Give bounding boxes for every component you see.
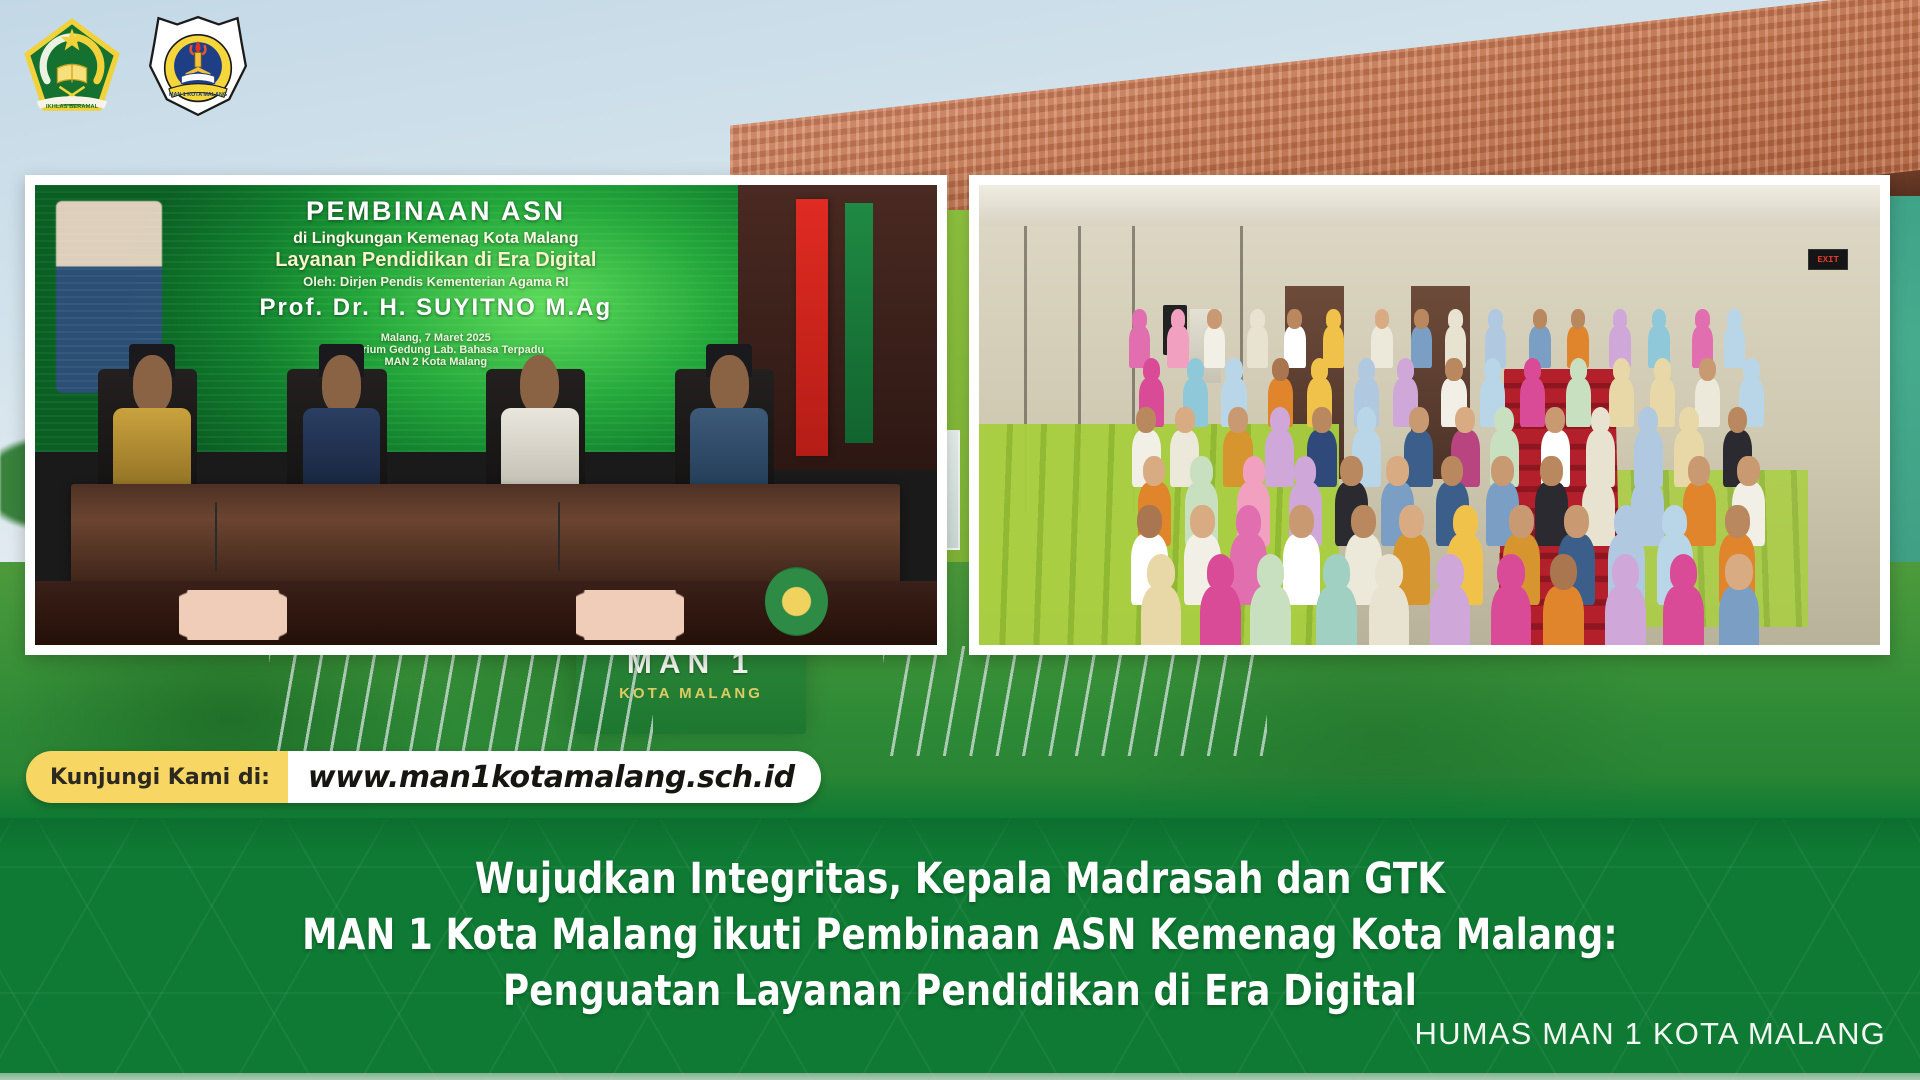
attendee-head [1688, 456, 1710, 485]
attendee-body [1200, 586, 1241, 645]
attendee-hijab [1497, 554, 1525, 590]
attendee-head [1737, 456, 1759, 485]
indonesia-flag [796, 199, 828, 457]
attendee-head [1441, 456, 1463, 485]
panelist-head [520, 355, 559, 413]
attendee [1719, 554, 1760, 645]
microphone [215, 502, 217, 571]
attendee [1369, 554, 1410, 645]
attendee-hijab [1695, 309, 1710, 328]
attendee-hijab [1524, 358, 1541, 381]
attendee-hijab [1236, 505, 1261, 538]
attendee-body [1491, 586, 1532, 645]
attendee-hijab [1591, 407, 1611, 433]
attendee-body [1719, 586, 1760, 645]
attendee-head [1143, 456, 1165, 485]
attendee-hijab [1311, 358, 1328, 381]
website-url-bar[interactable]: Kunjungi Kami di: www.man1kotamalang.sch… [26, 751, 821, 803]
screen-line-7: Auditorium Gedung Lab. Bahasa Terpadu [148, 344, 725, 356]
man1-kota-malang-logo: MAN 1 KOTA MALANG [146, 14, 250, 118]
attendee-body [1605, 586, 1646, 645]
attendee-head [1272, 358, 1289, 381]
attendee-head [1725, 505, 1750, 538]
attendee [1543, 554, 1584, 645]
attendee-hijab [1225, 358, 1242, 381]
attendee-hijab [1270, 407, 1290, 433]
attendee [1323, 309, 1345, 365]
green-footer-band: Wujudkan Integritas, Kepala Madrasah dan… [0, 818, 1920, 1080]
screen-line-5: Prof. Dr. H. SUYITNO M.Ag [148, 294, 725, 322]
panelist [499, 355, 580, 493]
auditorium-ceiling [979, 185, 1881, 226]
panelist-head [133, 355, 172, 413]
attendee-head [1351, 505, 1376, 538]
attendee [1200, 554, 1241, 645]
attendee-body [1316, 586, 1357, 645]
panelist [689, 355, 770, 493]
svg-text:IKHLAS BERAMAL: IKHLAS BERAMAL [46, 104, 99, 110]
kemenag-logo: IKHLAS BERAMAL [20, 14, 124, 118]
svg-text:MAN 1 KOTA MALANG: MAN 1 KOTA MALANG [169, 92, 227, 98]
attendee-head [1207, 309, 1222, 328]
screen-line-2: di Lingkungan Kemenag Kota Malang [148, 230, 725, 248]
attendee-body [1141, 586, 1182, 645]
attendee-head [1136, 407, 1156, 433]
attendee-hijab [1743, 358, 1760, 381]
attendee-head [1386, 456, 1408, 485]
attendee-hijab [1614, 505, 1639, 538]
attendee-hijab [1397, 358, 1414, 381]
headline-line-2: MAN 1 Kota Malang ikuti Pembinaan ASN Ke… [77, 908, 1843, 964]
exit-sign-label: EXIT [1817, 255, 1839, 265]
attendee-hijab [1612, 554, 1640, 590]
attendee-head [1564, 505, 1589, 538]
attendee-hijab [1654, 358, 1671, 381]
attendee [1167, 309, 1189, 365]
panel-stage-photo: PEMBINAAN ASN di Lingkungan Kemenag Kota… [35, 185, 937, 645]
photo-card-group-auditorium[interactable]: EXIT [969, 175, 1891, 655]
projection-screen-text: PEMBINAAN ASN di Lingkungan Kemenag Kota… [148, 196, 725, 368]
panelist-body [113, 408, 191, 496]
attendee-hijab [1375, 554, 1403, 590]
attendee [1430, 554, 1471, 645]
screen-line-4: Oleh: Dirjen Pendis Kementerian Agama RI [148, 274, 725, 289]
attendee-hijab [1143, 358, 1160, 381]
attendee-hijab [1636, 456, 1658, 485]
attendee-head [1399, 505, 1424, 538]
attendee-hijab [1448, 309, 1463, 328]
attendee [1129, 309, 1151, 365]
attendee-hijab [1294, 456, 1316, 485]
attendee-hijab [1358, 358, 1375, 381]
attendee-head [1312, 407, 1332, 433]
attendee-hijab [1453, 505, 1478, 538]
attendee-hijab [1670, 554, 1698, 590]
attendee [1692, 309, 1714, 365]
attendee [1491, 554, 1532, 645]
gate-railing-left [269, 646, 653, 756]
attendee [1485, 309, 1507, 365]
attendee [1284, 309, 1306, 365]
attendee-head [1414, 309, 1429, 328]
headline-line-1: Wujudkan Integritas, Kepala Madrasah dan… [77, 852, 1843, 908]
attendee-hijab [1638, 407, 1658, 433]
attendee-hijab [1662, 505, 1687, 538]
headline-block: Wujudkan Integritas, Kepala Madrasah dan… [0, 852, 1920, 1020]
attendee-head [1287, 309, 1302, 328]
attendee-head [1550, 554, 1578, 590]
attendee-head [1545, 407, 1565, 433]
attendee [1724, 309, 1746, 365]
table-ornament-panel [179, 590, 287, 641]
kemenag-flag [845, 203, 874, 442]
panelist-body [303, 408, 381, 496]
attendee-hijab [1257, 554, 1285, 590]
microphone [558, 502, 560, 571]
attendee [1141, 554, 1182, 645]
attendee [1648, 309, 1670, 365]
panelist-head [710, 355, 749, 413]
panelist-head [322, 355, 361, 413]
attendee-hijab [1587, 456, 1609, 485]
screen-line-8: MAN 2 Kota Malang [148, 356, 725, 368]
attendee-head [1228, 407, 1248, 433]
group-of-attendees [1123, 295, 1790, 645]
credit-line: HUMAS MAN 1 KOTA MALANG [1415, 1016, 1886, 1052]
attendee-head [1491, 456, 1513, 485]
attendee [1371, 309, 1393, 365]
bottom-edge-strip [0, 1073, 1920, 1080]
attendee-hijab [1613, 358, 1630, 381]
attendee-hijab [1243, 456, 1265, 485]
attendee-hijab [1679, 407, 1699, 433]
screen-line-6: Malang, 7 Maret 2025 [148, 332, 725, 344]
attendee-hijab [1207, 554, 1235, 590]
panelist-body [690, 408, 768, 496]
attendee-hijab [1323, 554, 1351, 590]
screen-line-3: Layanan Pendidikan di Era Digital [148, 249, 725, 272]
attendee-hijab [1570, 358, 1587, 381]
panelist [301, 355, 382, 493]
attendee [1529, 309, 1551, 365]
attendee-hijab [1436, 554, 1464, 590]
attendee-head [1509, 505, 1534, 538]
attendee-head [1728, 407, 1748, 433]
attendee-hijab [1171, 309, 1186, 328]
panelist [112, 355, 193, 493]
attendee [1445, 309, 1467, 365]
headline-line-3: Penguatan Layanan Pendidikan di Era Digi… [77, 964, 1843, 1020]
attendee-hijab [1147, 554, 1175, 590]
attendee-head [1699, 358, 1716, 381]
attendee-head [1725, 554, 1753, 590]
attendee-head [1571, 309, 1586, 328]
attendee-hijab [1187, 358, 1204, 381]
attendee [1247, 309, 1269, 365]
attendee-hijab [1357, 407, 1377, 433]
attendee-head [1137, 505, 1162, 538]
attendee-hijab [1494, 407, 1514, 433]
attendee-hijab [1326, 309, 1341, 328]
logo-group: IKHLAS BERAMAL MAN 1 KOTA MALANG [20, 14, 250, 118]
attendee [1250, 554, 1291, 645]
screen-line-1: PEMBINAAN ASN [148, 196, 725, 227]
attendee-hijab [1190, 456, 1212, 485]
attendee [1411, 309, 1433, 365]
attendee-head [1445, 358, 1462, 381]
attendee-body [1543, 586, 1584, 645]
attendee-hijab [1132, 309, 1147, 328]
attendee [1605, 554, 1646, 645]
attendee [1567, 309, 1589, 365]
attendee-hijab [1484, 358, 1501, 381]
panel-table [71, 484, 900, 585]
attendee-head [1540, 456, 1562, 485]
attendee [1663, 554, 1704, 645]
attendee-body [1369, 586, 1410, 645]
exit-sign: EXIT [1808, 249, 1849, 270]
attendee-head [1190, 505, 1215, 538]
attendee-body [1250, 586, 1291, 645]
group-photo-auditorium: EXIT [979, 185, 1881, 645]
attendee-body [1247, 326, 1269, 368]
attendee-head [1455, 407, 1475, 433]
panelist-body [501, 408, 579, 496]
attendee-head [1409, 407, 1429, 433]
attendee-hijab [1613, 309, 1628, 328]
table-ornament-panel [576, 590, 684, 641]
attendee [1609, 309, 1631, 365]
photo-gallery: PEMBINAAN ASN di Lingkungan Kemenag Kota… [25, 175, 1890, 655]
attendee-hijab [1250, 309, 1265, 328]
attendee-body [1430, 586, 1471, 645]
kemenag-seal-badge [765, 567, 828, 636]
attendee-hijab [1727, 309, 1742, 328]
attendee-head [1340, 456, 1362, 485]
attendee-head [1289, 505, 1314, 538]
attendee-head [1533, 309, 1548, 328]
attendee-head [1375, 309, 1390, 328]
attendee-hijab [1488, 309, 1503, 328]
attendee [1316, 554, 1357, 645]
photo-card-panel-stage[interactable]: PEMBINAAN ASN di Lingkungan Kemenag Kota… [25, 175, 947, 655]
attendee-body [1663, 586, 1704, 645]
attendee-head [1175, 407, 1195, 433]
attendee [1204, 309, 1226, 365]
gate-railing-right [883, 646, 1267, 756]
website-url[interactable]: www.man1kotamalang.sch.id [288, 751, 821, 803]
attendee-hijab [1652, 309, 1667, 328]
url-bar-label: Kunjungi Kami di: [26, 751, 288, 803]
